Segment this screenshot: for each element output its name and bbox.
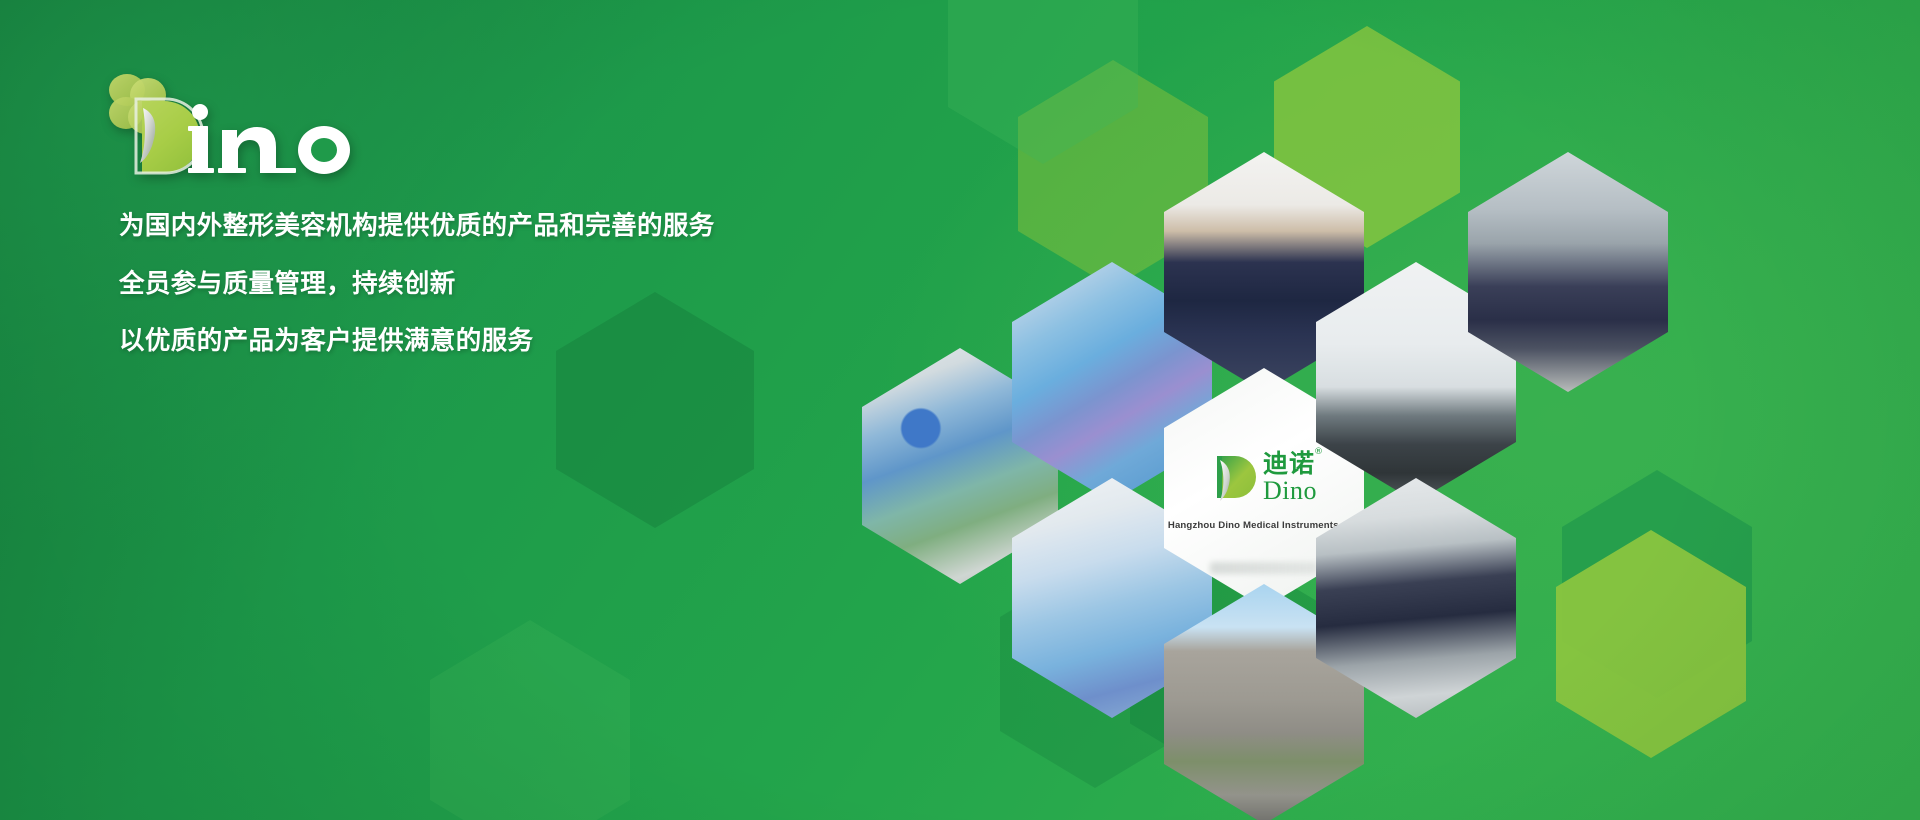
center-logo-d-icon — [1211, 453, 1257, 503]
center-logo-mark: 迪诺® Dino — [1211, 451, 1317, 504]
dino-logo-svg — [96, 68, 396, 188]
tagline-2: 全员参与质量管理，持续创新 — [119, 272, 879, 298]
center-logo-cn: 迪诺® — [1263, 451, 1315, 476]
hero-banner: 为国内外整形美容机构提供优质的产品和完善的服务 全员参与质量管理，持续创新 以优… — [0, 0, 1920, 820]
center-logo-blurred-strip — [1210, 562, 1318, 574]
tagline-3: 以优质的产品为客户提供满意的服务 — [119, 329, 879, 355]
tagline-1: 为国内外整形美容机构提供优质的产品和完善的服务 — [119, 214, 879, 240]
registered-mark: ® — [1314, 448, 1324, 457]
tagline-group: 为国内外整形美容机构提供优质的产品和完善的服务 全员参与质量管理，持续创新 以优… — [119, 214, 879, 355]
dino-logo — [96, 68, 516, 188]
center-logo-en: Dino — [1263, 478, 1317, 504]
center-logo-cn-text: 迪诺 — [1263, 449, 1315, 478]
